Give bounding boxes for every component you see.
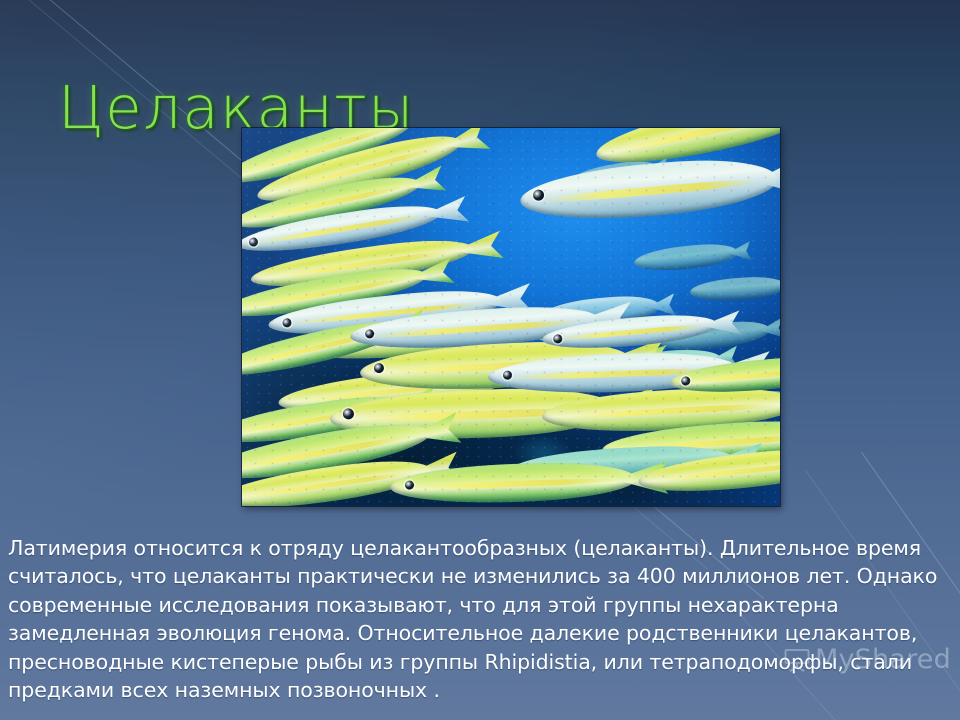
presentation-slide: Целаканты [0, 0, 960, 720]
photo-sheen-layer [242, 128, 780, 506]
slide-body-text: Латимерия относится к отряду целакантооб… [8, 534, 956, 705]
underwater-fish-photo [242, 128, 780, 506]
